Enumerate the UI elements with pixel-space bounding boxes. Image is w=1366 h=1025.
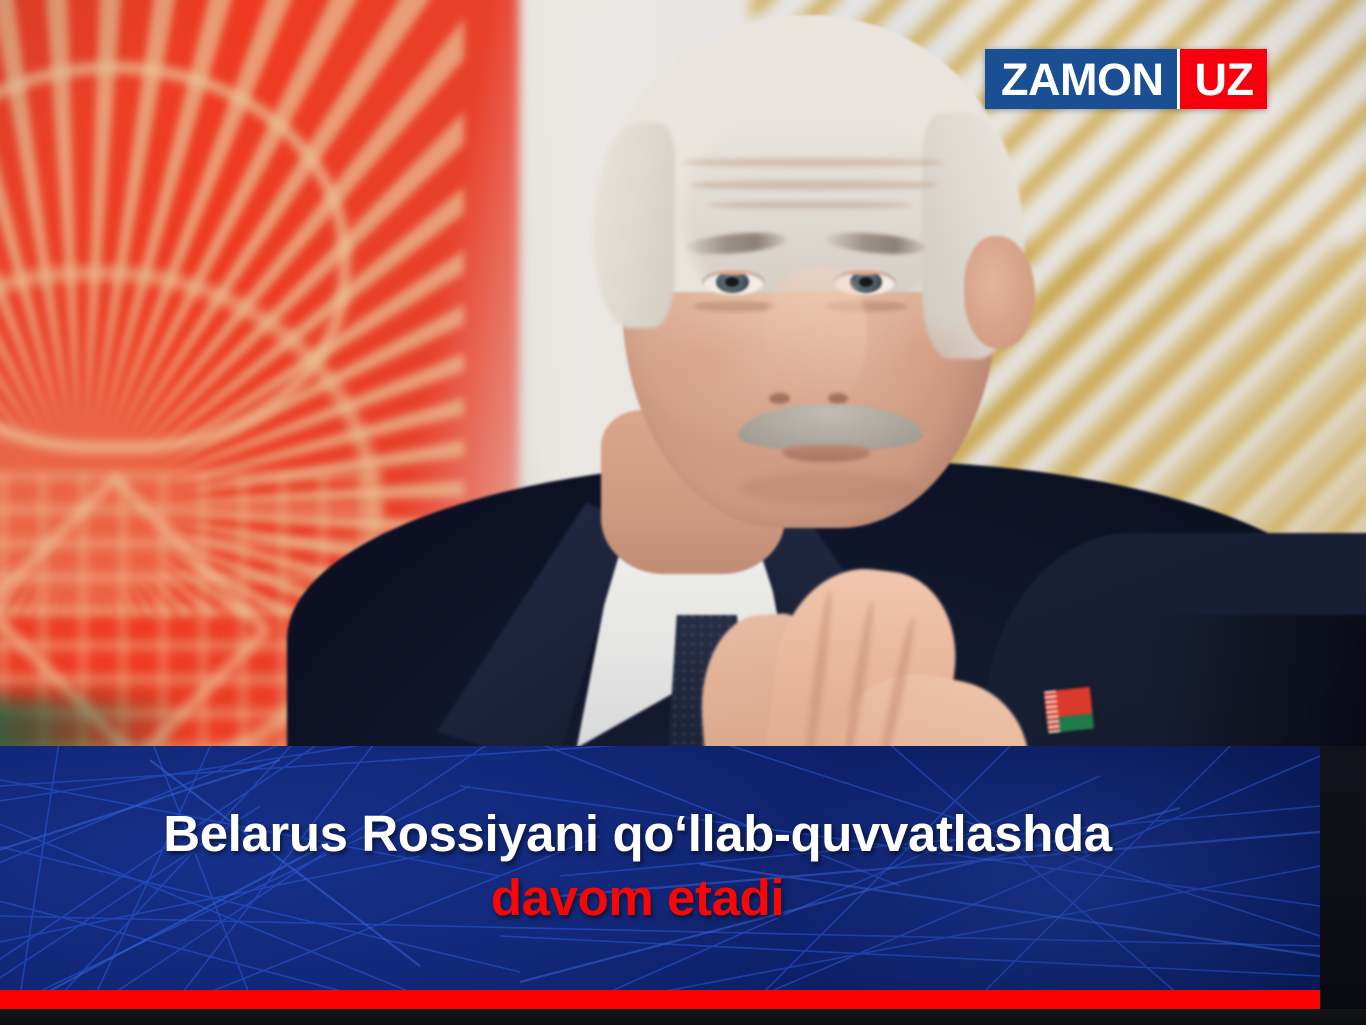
bottom-dark-strip: [0, 1009, 1366, 1025]
headline-line-2: davom etadi: [0, 872, 1275, 923]
forehead-crease: [691, 180, 937, 189]
caption-banner: Belarus Rossiyani qo‘llab-quvvatlashda d…: [0, 746, 1320, 990]
banner-right-gap: [1320, 746, 1366, 1009]
zamon-uz-logo[interactable]: ZAMON UZ: [985, 49, 1267, 109]
belarus-flag-pin-icon: [1044, 686, 1095, 733]
eye-left: [702, 270, 765, 296]
nose: [765, 267, 867, 411]
banner-red-rule: [0, 990, 1320, 1009]
news-card: ZAMON UZ: [0, 0, 1366, 1025]
pupil: [859, 277, 873, 288]
nostril: [828, 393, 848, 404]
under-eye-line: [694, 301, 776, 311]
chin-shadow: [738, 472, 916, 505]
hair-side-left: [593, 123, 675, 328]
forehead-crease: [708, 201, 913, 209]
cheek-shading: [874, 318, 997, 400]
pupil: [725, 277, 739, 288]
cheek-shading: [642, 318, 765, 400]
nostril: [769, 393, 789, 404]
forehead-crease: [683, 158, 943, 167]
headline-line-1: Belarus Rossiyani qo‘llab-quvvatlashda: [0, 808, 1275, 859]
logo-primary-text: ZAMON: [985, 49, 1177, 109]
logo-secondary-text: UZ: [1180, 49, 1267, 109]
headline: Belarus Rossiyani qo‘llab-quvvatlashda d…: [0, 808, 1275, 923]
eyelid: [702, 270, 765, 276]
